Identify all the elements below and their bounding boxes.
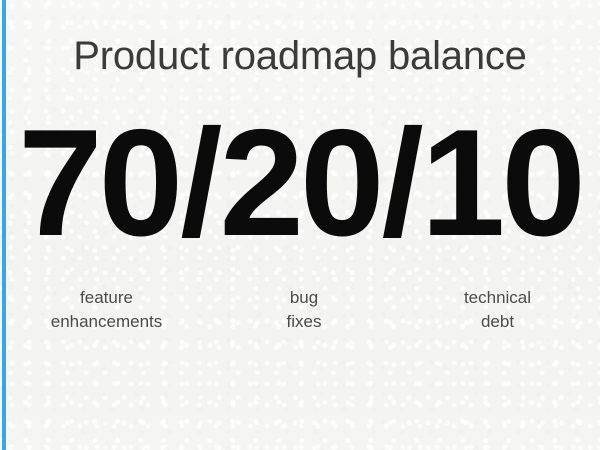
caption-technical-line1: technical [395, 286, 600, 310]
caption-technical-line2: debt [395, 310, 600, 334]
ratio-value-bug: 20 [219, 108, 380, 258]
ratio-value-feature: 70 [18, 108, 179, 258]
ratio-separator-1: / [179, 108, 219, 258]
caption-bug-line2: fixes [213, 310, 395, 334]
ratio-separator-2: / [381, 108, 421, 258]
caption-feature-line2: enhancements [0, 310, 213, 334]
ratio-figure: 70 / 20 / 10 [0, 108, 600, 258]
caption-technical-debt: technical debt [395, 286, 600, 334]
ratio-caption-row: feature enhancements bug fixes technical… [0, 286, 600, 334]
page-title: Product roadmap balance [0, 32, 600, 80]
caption-bug-fixes: bug fixes [213, 286, 395, 334]
caption-feature-line1: feature [0, 286, 213, 310]
caption-feature-enhancements: feature enhancements [0, 286, 213, 334]
ratio-value-technical: 10 [421, 108, 582, 258]
slide-content: Product roadmap balance 70 / 20 / 10 fea… [0, 0, 600, 450]
caption-bug-line1: bug [213, 286, 395, 310]
slide-canvas: Product roadmap balance 70 / 20 / 10 fea… [0, 0, 600, 450]
